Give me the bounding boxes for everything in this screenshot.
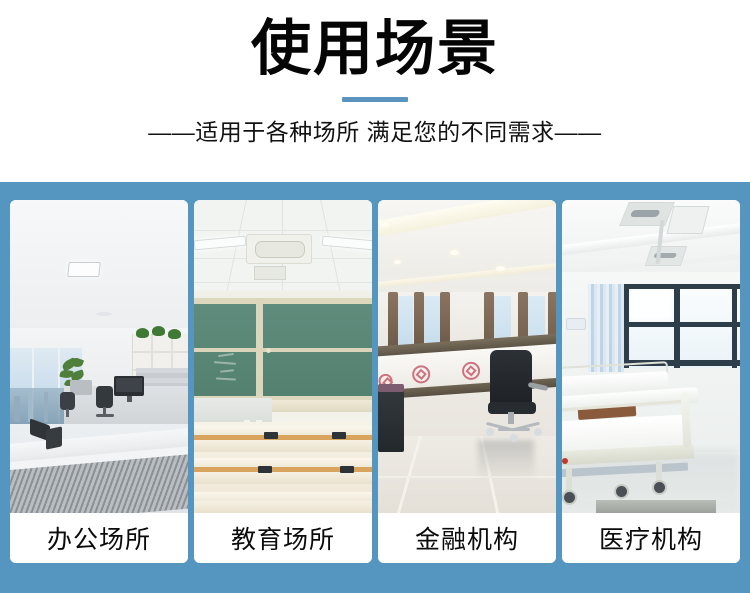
downlight-icon xyxy=(496,266,505,271)
hospital-bed xyxy=(562,392,702,508)
ceiling-duct xyxy=(667,206,710,234)
hospital-photo xyxy=(562,200,740,513)
curtain xyxy=(414,292,424,348)
wall-fixture xyxy=(566,318,586,330)
office-photo xyxy=(10,200,188,513)
office-chair xyxy=(486,350,550,442)
page-subtitle: ——适用于各种场所 满足您的不同需求—— xyxy=(148,117,601,147)
chalkboard-frame-vertical xyxy=(256,298,263,402)
page-title: 使用场景 xyxy=(251,13,499,85)
monitor-stand xyxy=(127,396,132,402)
scenario-card-medical[interactable]: 医疗机构 xyxy=(562,200,740,563)
window xyxy=(424,296,441,348)
window xyxy=(396,296,413,348)
use-scenario-page: 使用场景 ——适用于各种场所 满足您的不同需求—— xyxy=(0,0,750,593)
ceiling-grid-line xyxy=(194,230,372,231)
privacy-curtain xyxy=(588,284,624,372)
side-cabinet xyxy=(378,390,404,452)
ceiling-duct xyxy=(619,202,675,226)
scenario-band: 办公场所 xyxy=(0,182,750,593)
foreground-chair xyxy=(30,422,64,464)
scenario-card-education[interactable]: 教育场所 xyxy=(194,200,372,563)
scenario-label-office: 办公场所 xyxy=(10,513,188,563)
smoke-detector-icon xyxy=(96,312,112,316)
downlight-icon xyxy=(450,250,459,255)
office-chair xyxy=(94,386,116,418)
title-divider xyxy=(342,97,408,102)
board-ledge xyxy=(272,400,372,412)
downlight-icon xyxy=(380,222,389,227)
monitor-icon xyxy=(114,376,144,396)
downlight-icon xyxy=(394,260,401,264)
scenario-label-medical: 医疗机构 xyxy=(562,513,740,563)
ceiling-grid-line xyxy=(194,282,372,283)
curtain xyxy=(440,292,450,348)
classroom-photo xyxy=(194,200,372,513)
counter-emblem-icon xyxy=(461,361,480,380)
chalkboard-knob xyxy=(266,348,271,353)
ceiling-panel-light-icon xyxy=(67,262,101,277)
floor-reflection xyxy=(478,440,534,480)
chalk-writing xyxy=(212,352,252,386)
bank-photo xyxy=(378,200,556,513)
page-header: 使用场景 ——适用于各种场所 满足您的不同需求—— xyxy=(0,0,750,182)
scenario-label-education: 教育场所 xyxy=(194,513,372,563)
ceiling-duct xyxy=(645,246,687,266)
shelf-plants xyxy=(136,326,184,340)
city-building xyxy=(44,392,48,422)
ceiling-air-unit xyxy=(246,234,312,264)
office-chair xyxy=(58,392,78,420)
scenario-label-finance: 金融机构 xyxy=(378,513,556,563)
counter-emblem-icon xyxy=(412,365,431,384)
scenario-card-finance[interactable]: 金融机构 xyxy=(378,200,556,563)
projector-mount xyxy=(254,266,286,280)
curtain xyxy=(388,292,398,348)
ward-window xyxy=(624,284,740,368)
floor-step xyxy=(596,500,716,513)
scenario-card-list: 办公场所 xyxy=(10,200,740,563)
scenario-card-office[interactable]: 办公场所 xyxy=(10,200,188,563)
